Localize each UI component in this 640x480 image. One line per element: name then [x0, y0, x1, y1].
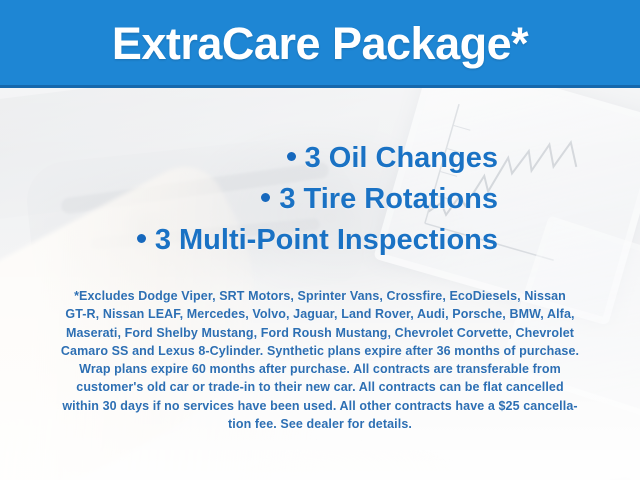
list-item: 3 Tire Rotations — [0, 179, 498, 220]
list-item: 3 Multi-Point Inspections — [0, 220, 498, 261]
disclaimer-text: *Excludes Dodge Viper, SRT Motors, Sprin… — [18, 287, 622, 433]
disclaimer-line: tion fee. See dealer for details. — [18, 415, 622, 433]
header-banner: ExtraCare Package* — [0, 0, 640, 88]
disclaimer-line: within 30 days if no services have been … — [18, 397, 622, 415]
feature-list: 3 Oil Changes 3 Tire Rotations 3 Multi-P… — [0, 138, 640, 261]
list-item-label: 3 Oil Changes — [305, 142, 498, 174]
list-item: 3 Oil Changes — [0, 138, 498, 179]
extracare-package-ad: ExtraCare Package* 3 Oil Changes 3 Tire … — [0, 0, 640, 480]
bullet-dot-icon — [137, 234, 146, 243]
bullet-dot-icon — [287, 152, 296, 161]
disclaimer-line: Wrap plans expire 60 months after purcha… — [18, 360, 622, 378]
list-item-label: 3 Multi-Point Inspections — [155, 224, 498, 256]
disclaimer-line: GT-R, Nissan LEAF, Mercedes, Volvo, Jagu… — [18, 305, 622, 323]
bullet-dot-icon — [261, 193, 270, 202]
page-title: ExtraCare Package* — [0, 18, 640, 70]
disclaimer-line: Maserati, Ford Shelby Mustang, Ford Rous… — [18, 324, 622, 342]
disclaimer-line: Camaro SS and Lexus 8-Cylinder. Syntheti… — [18, 342, 622, 360]
disclaimer-line: customer's old car or trade-in to their … — [18, 378, 622, 396]
list-item-label: 3 Tire Rotations — [279, 183, 498, 215]
disclaimer-line: *Excludes Dodge Viper, SRT Motors, Sprin… — [18, 287, 622, 305]
